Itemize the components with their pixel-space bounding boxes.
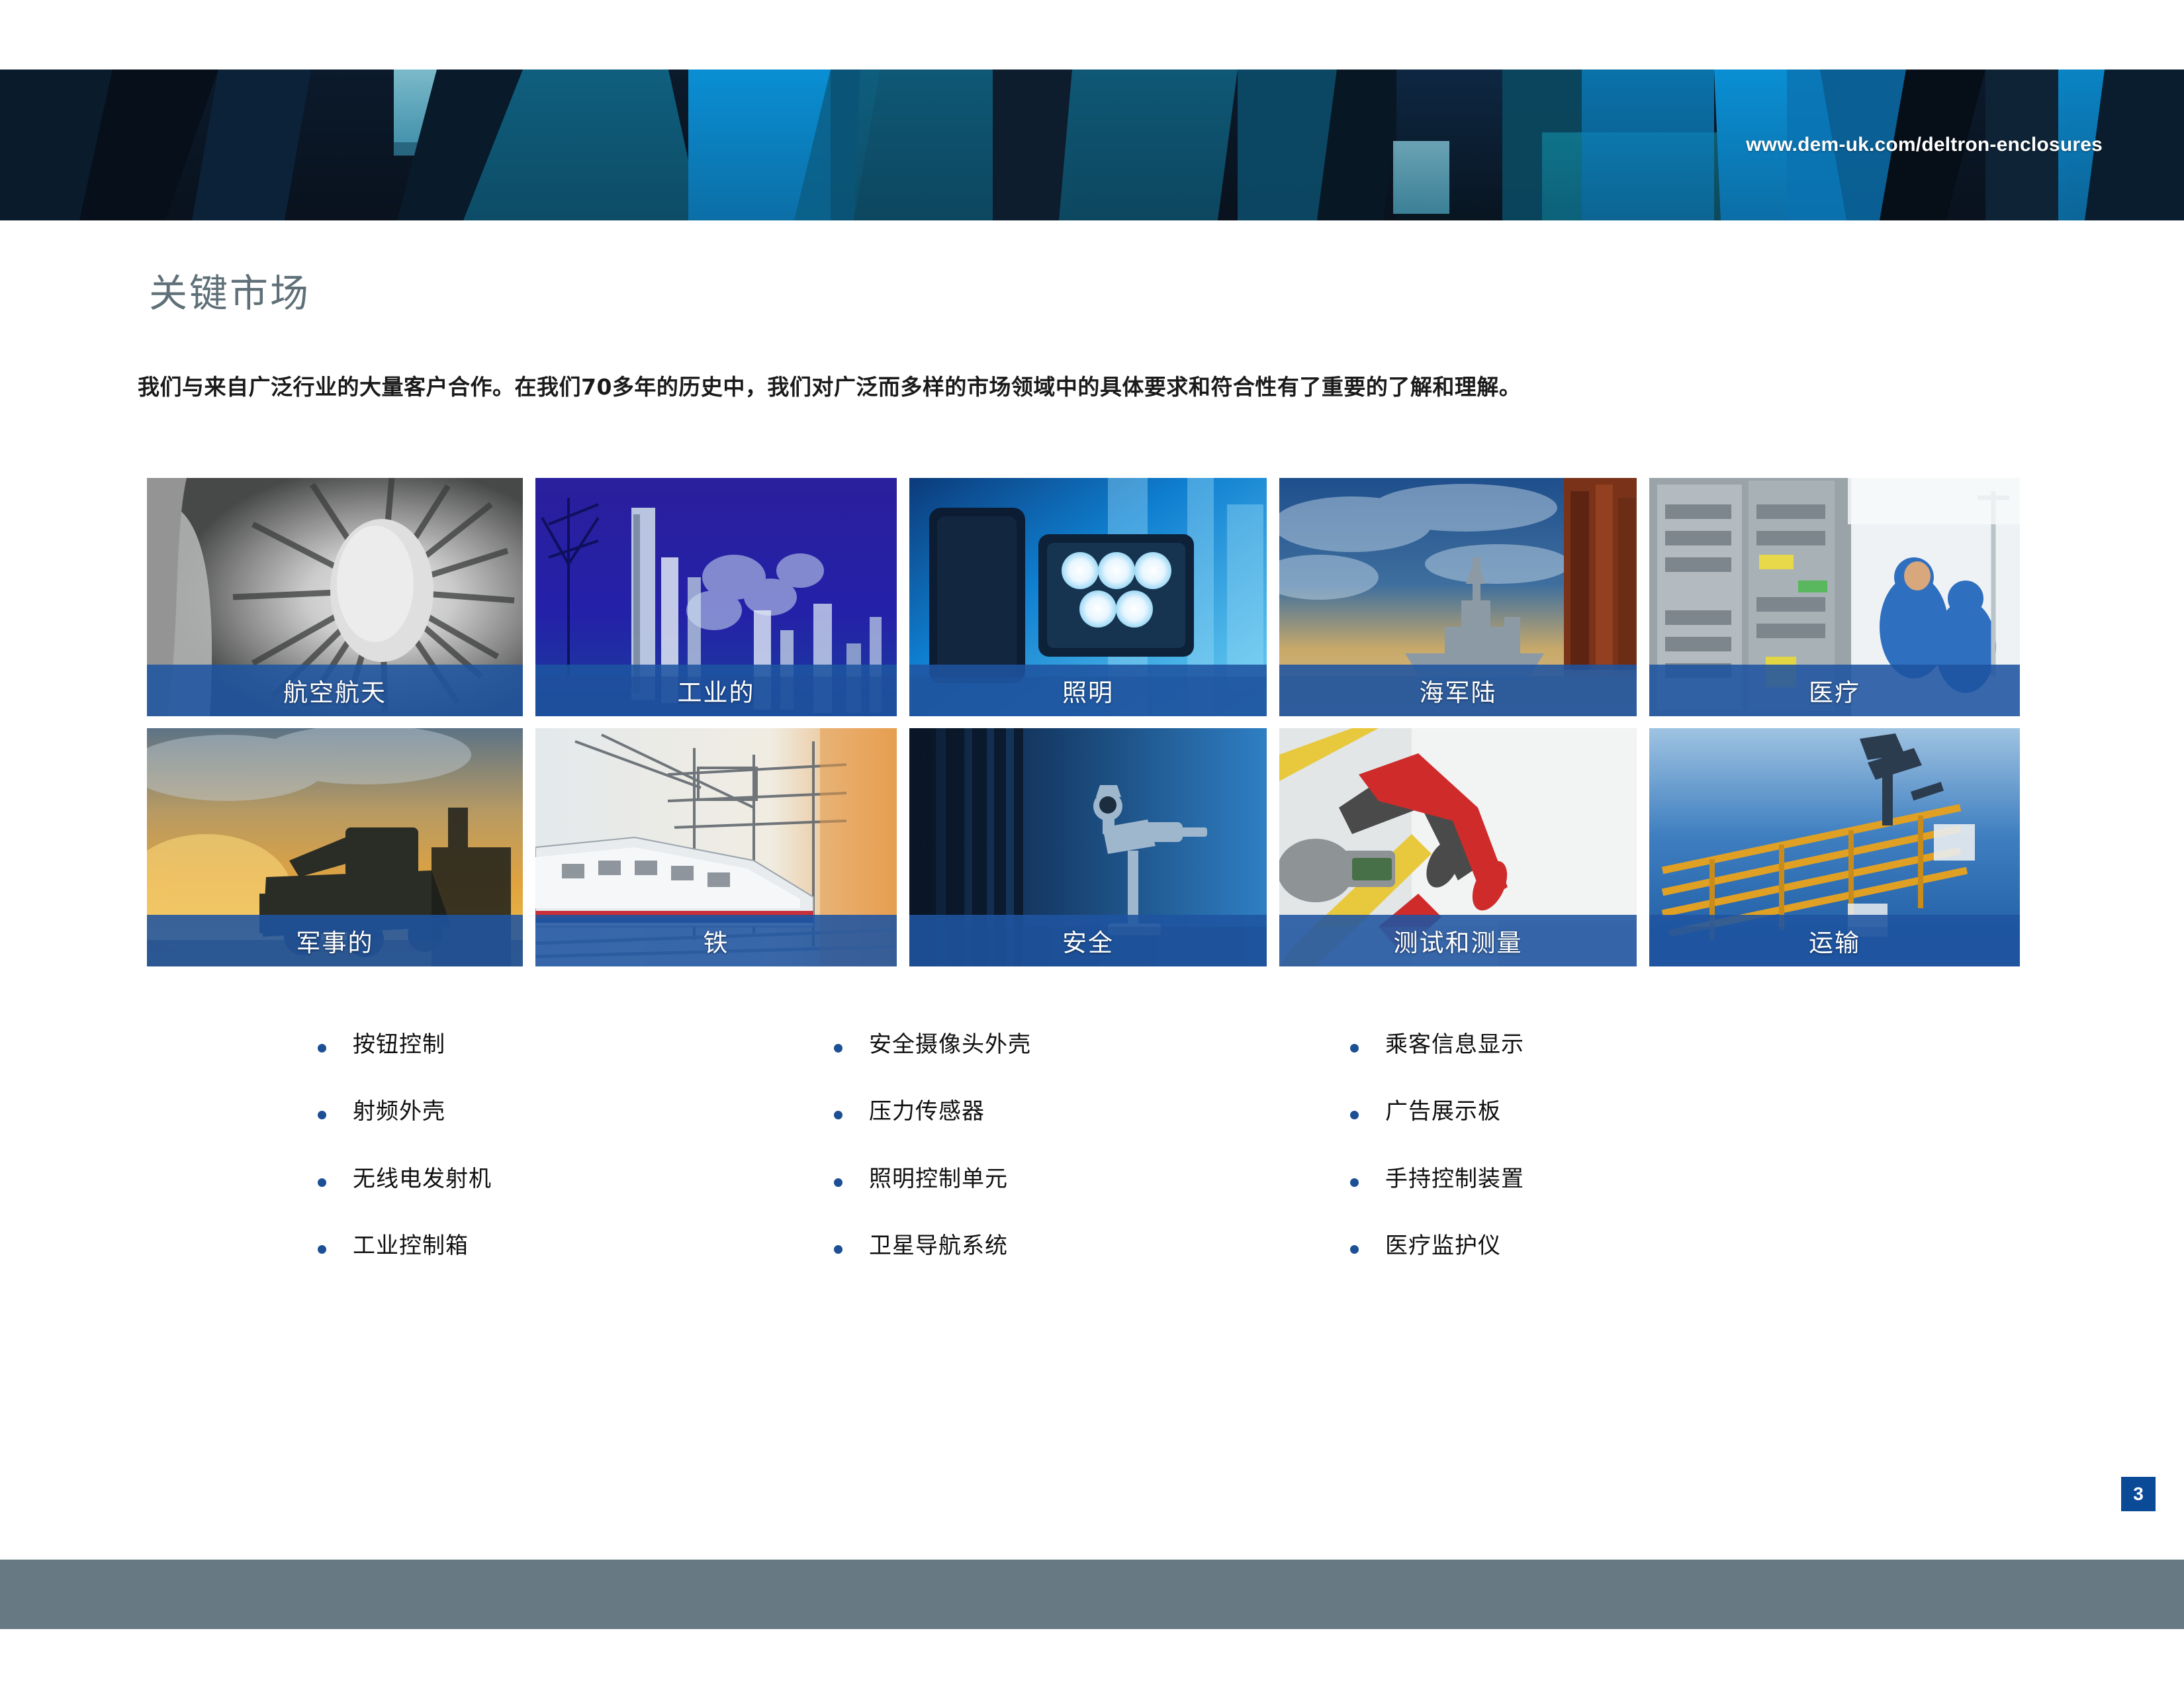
market-caption: 运输 [1649, 915, 2020, 966]
market-tile-rail[interactable]: 铁 [535, 728, 897, 966]
markets-row-2: 军事的 [147, 728, 2046, 966]
bullet-dot-icon [318, 1178, 326, 1187]
list-item-label: 压力传感器 [869, 1100, 985, 1124]
list-item-label: 手持控制装置 [1385, 1167, 1524, 1192]
bullet-dot-icon [834, 1178, 842, 1187]
market-tile-military[interactable]: 军事的 [147, 728, 523, 966]
bullet-dot-icon [834, 1245, 842, 1254]
bullet-dot-icon [318, 1044, 326, 1053]
markets-grid: 航空航天 [147, 478, 2046, 978]
list-item-label: 广告展示板 [1385, 1100, 1501, 1124]
list-item-label: 医疗监护仪 [1385, 1234, 1501, 1258]
page-number-badge: 3 [2121, 1477, 2156, 1511]
applications-column-1: 按钮控制 射频外壳 无线电发射机 工业控制箱 [318, 1033, 635, 1301]
market-caption: 工业的 [535, 665, 897, 716]
page-title: 关键市场 [149, 262, 310, 318]
list-item-label: 工业控制箱 [353, 1234, 469, 1258]
list-item: 乘客信息显示 [1350, 1033, 1668, 1057]
applications-lists: 按钮控制 射频外壳 无线电发射机 工业控制箱 安全摄像头外壳 压力传感器 照明控… [318, 1033, 1668, 1301]
list-item: 射频外壳 [318, 1100, 635, 1124]
bullet-dot-icon [1350, 1178, 1359, 1187]
applications-column-3: 乘客信息显示 广告展示板 手持控制装置 医疗监护仪 [1350, 1033, 1668, 1301]
market-caption: 测试和测量 [1279, 915, 1637, 966]
intro-paragraph: 我们与来自广泛行业的大量客户合作。在我们70多年的历史中，我们对广泛而多样的市场… [138, 373, 2077, 402]
list-item-label: 卫星导航系统 [869, 1234, 1008, 1258]
market-tile-lighting[interactable]: 照明 [909, 478, 1267, 716]
list-item: 按钮控制 [318, 1033, 635, 1057]
bullet-dot-icon [1350, 1111, 1359, 1119]
market-caption: 安全 [909, 915, 1267, 966]
list-item-label: 按钮控制 [353, 1033, 445, 1057]
applications-column-2: 安全摄像头外壳 压力传感器 照明控制单元 卫星导航系统 [834, 1033, 1152, 1301]
list-item: 安全摄像头外壳 [834, 1033, 1152, 1057]
market-tile-security[interactable]: 安全 [909, 728, 1267, 966]
market-caption: 海军陆 [1279, 665, 1637, 716]
bullet-dot-icon [834, 1044, 842, 1053]
market-caption: 铁 [535, 915, 897, 966]
list-item-label: 乘客信息显示 [1385, 1033, 1524, 1057]
bullet-dot-icon [1350, 1245, 1359, 1254]
bullet-dot-icon [1350, 1044, 1359, 1053]
list-item: 工业控制箱 [318, 1234, 635, 1258]
list-item: 压力传感器 [834, 1100, 1152, 1124]
market-tile-naval[interactable]: 海军陆 [1279, 478, 1637, 716]
market-tile-aerospace[interactable]: 航空航天 [147, 478, 523, 716]
header-banner: www.dem-uk.com/deltron-enclosures [0, 70, 2184, 220]
list-item-label: 安全摄像头外壳 [869, 1033, 1031, 1057]
list-item: 照明控制单元 [834, 1167, 1152, 1192]
market-tile-industrial[interactable]: 工业的 [535, 478, 897, 716]
market-tile-medical[interactable]: 医疗 [1649, 478, 2020, 716]
header-url[interactable]: www.dem-uk.com/deltron-enclosures [1746, 134, 2103, 156]
market-caption: 航空航天 [147, 665, 523, 716]
list-item-label: 无线电发射机 [353, 1167, 492, 1192]
list-item: 手持控制装置 [1350, 1167, 1668, 1192]
list-item: 广告展示板 [1350, 1100, 1668, 1124]
list-item: 医疗监护仪 [1350, 1234, 1668, 1258]
bullet-dot-icon [318, 1111, 326, 1119]
market-tile-test-measurement[interactable]: 测试和测量 [1279, 728, 1637, 966]
markets-row-1: 航空航天 [147, 478, 2046, 716]
list-item: 无线电发射机 [318, 1167, 635, 1192]
list-item-label: 射频外壳 [353, 1100, 445, 1124]
list-item: 卫星导航系统 [834, 1234, 1152, 1258]
market-caption: 医疗 [1649, 665, 2020, 716]
market-caption: 照明 [909, 665, 1267, 716]
list-item-label: 照明控制单元 [869, 1167, 1008, 1192]
bullet-dot-icon [318, 1245, 326, 1254]
bullet-dot-icon [834, 1111, 842, 1119]
market-tile-transport[interactable]: 运输 [1649, 728, 2020, 966]
market-caption: 军事的 [147, 915, 523, 966]
footer-bar [0, 1560, 2184, 1629]
